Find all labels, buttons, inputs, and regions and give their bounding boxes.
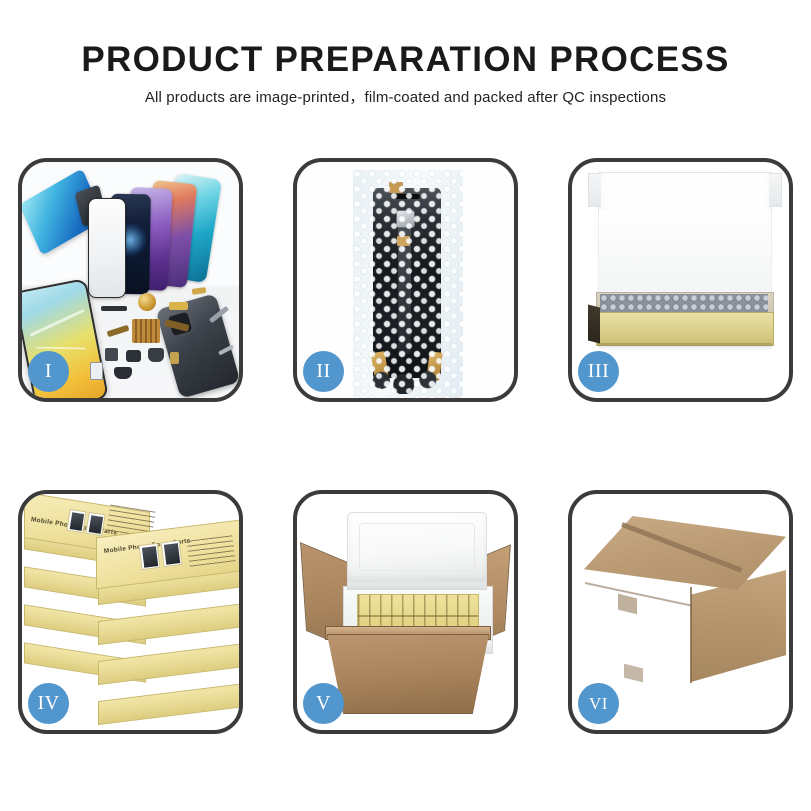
foam-lid: [347, 512, 487, 582]
step-badge-5: V: [303, 683, 344, 724]
white-lid-inner-panel: [598, 210, 772, 292]
bubble-wrap-contents: [600, 294, 768, 314]
carton-front-panel: [327, 634, 489, 714]
process-step-grid: I II: [18, 158, 793, 734]
process-step-card-1: I: [18, 158, 243, 402]
front-box-3: [98, 643, 239, 685]
process-step-card-5: V: [293, 490, 518, 734]
step-badge-6: VI: [578, 683, 619, 724]
front-lid-screen-image-1: [139, 543, 161, 570]
process-step-card-6: VI: [568, 490, 793, 734]
carton-vertical-seam: [690, 587, 692, 683]
tray-drop-shadow: [598, 343, 772, 350]
part-gold-coil: [138, 293, 156, 311]
bubble-wrap-bag: [353, 170, 463, 398]
process-step-card-4: Mobile Phone Spare Parts Mobile Phone Sp…: [18, 490, 243, 734]
page-title: PRODUCT PREPARATION PROCESS: [0, 38, 811, 82]
kraft-tray-side: [588, 305, 600, 344]
step-badge-2: II: [303, 351, 344, 392]
part-gold-connector: [169, 302, 188, 310]
kraft-tray-front: [596, 312, 774, 346]
part-speaker-unit: [114, 367, 132, 379]
part-small-module-c: [148, 348, 164, 362]
part-small-module-b: [126, 350, 141, 362]
page-header: PRODUCT PREPARATION PROCESS All products…: [0, 38, 811, 108]
process-step-card-2: II: [293, 158, 518, 402]
page-subtitle: All products are image-printed，film-coat…: [0, 88, 811, 108]
front-box-4: [98, 683, 239, 725]
part-gold-pin: [170, 352, 179, 364]
part-speaker-mesh: [101, 306, 127, 311]
process-step-card-3: III: [568, 158, 793, 402]
product-preparation-page: PRODUCT PREPARATION PROCESS All products…: [0, 0, 811, 811]
part-small-module-a: [105, 348, 118, 361]
rear-lid-screen-image-1: [66, 509, 86, 533]
front-lid-screen-image-2: [161, 540, 183, 567]
part-chip-array: [132, 319, 160, 343]
step-badge-1: I: [28, 351, 69, 392]
step-badge-3: III: [578, 351, 619, 392]
front-lid-spec-text: [187, 535, 236, 566]
front-box-2: [98, 603, 239, 645]
phone-blank-glass: [88, 198, 126, 298]
rear-lid-screen-image-2: [85, 512, 105, 536]
step-badge-4: IV: [28, 683, 69, 724]
part-sim-tray: [90, 362, 103, 380]
bubble-texture: [353, 170, 463, 398]
